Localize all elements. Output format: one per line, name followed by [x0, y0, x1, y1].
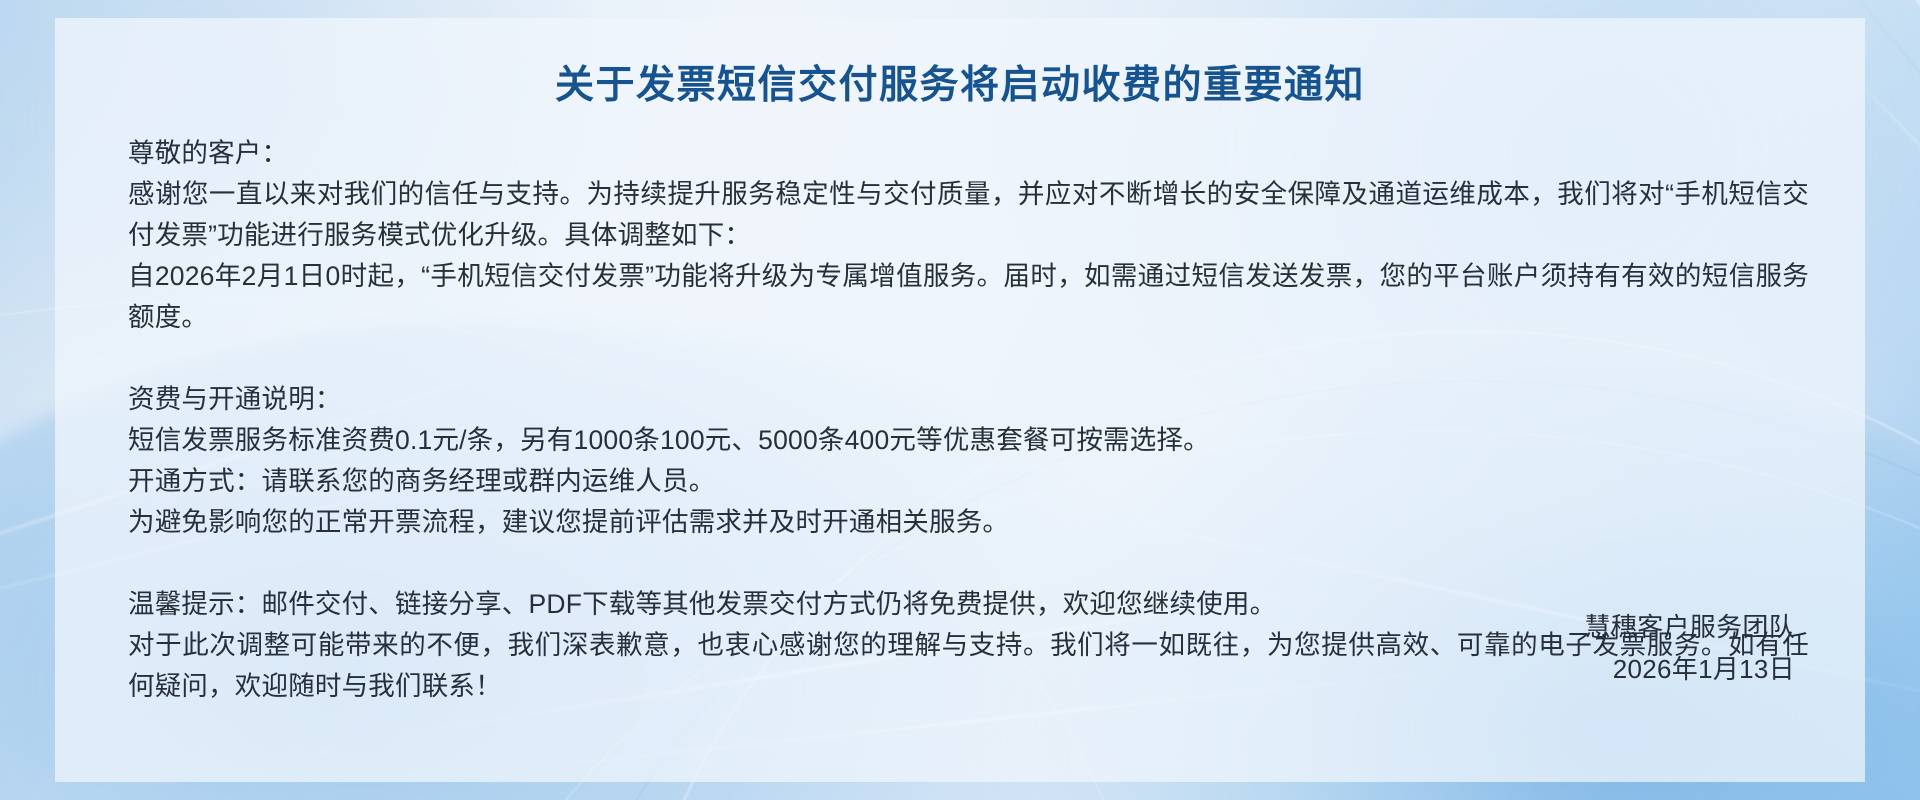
page-title: 关于发票短信交付服务将启动收费的重要通知 — [55, 54, 1865, 110]
spacer-1 — [128, 338, 1809, 379]
spacer-2 — [128, 543, 1809, 584]
pricing-heading: 资费与开通说明： — [128, 379, 1809, 420]
pricing-rate: 短信发票服务标准资费0.1元/条，另有1000条100元、5000条400元等优… — [128, 420, 1809, 461]
notice-card: 关于发票短信交付服务将启动收费的重要通知 尊敬的客户： 感谢您一直以来对我们的信… — [55, 18, 1865, 782]
signature-date: 2026年1月13日 — [1585, 648, 1795, 690]
notice-background: 关于发票短信交付服务将启动收费的重要通知 尊敬的客户： 感谢您一直以来对我们的信… — [0, 0, 1920, 800]
intro-paragraph: 感谢您一直以来对我们的信任与支持。为持续提升服务稳定性与交付质量，并应对不断增长… — [128, 174, 1809, 256]
effective-date-paragraph: 自2026年2月1日0时起，“手机短信交付发票”功能将升级为专属增值服务。届时，… — [128, 256, 1809, 338]
notice-body: 尊敬的客户： 感谢您一直以来对我们的信任与支持。为持续提升服务稳定性与交付质量，… — [128, 133, 1809, 707]
signature-block: 慧穗客户服务团队 2026年1月13日 — [1585, 606, 1795, 690]
apology-paragraph: 对于此次调整可能带来的不便，我们深表歉意，也衷心感谢您的理解与支持。我们将一如既… — [128, 625, 1809, 707]
signature-team: 慧穗客户服务团队 — [1585, 606, 1795, 648]
activation-method: 开通方式：请联系您的商务经理或群内运维人员。 — [128, 461, 1809, 502]
salutation: 尊敬的客户： — [128, 133, 1809, 174]
friendly-tip: 温馨提示：邮件交付、链接分享、PDF下载等其他发票交付方式仍将免费提供，欢迎您继… — [128, 584, 1809, 625]
advice-paragraph: 为避免影响您的正常开票流程，建议您提前评估需求并及时开通相关服务。 — [128, 502, 1809, 543]
